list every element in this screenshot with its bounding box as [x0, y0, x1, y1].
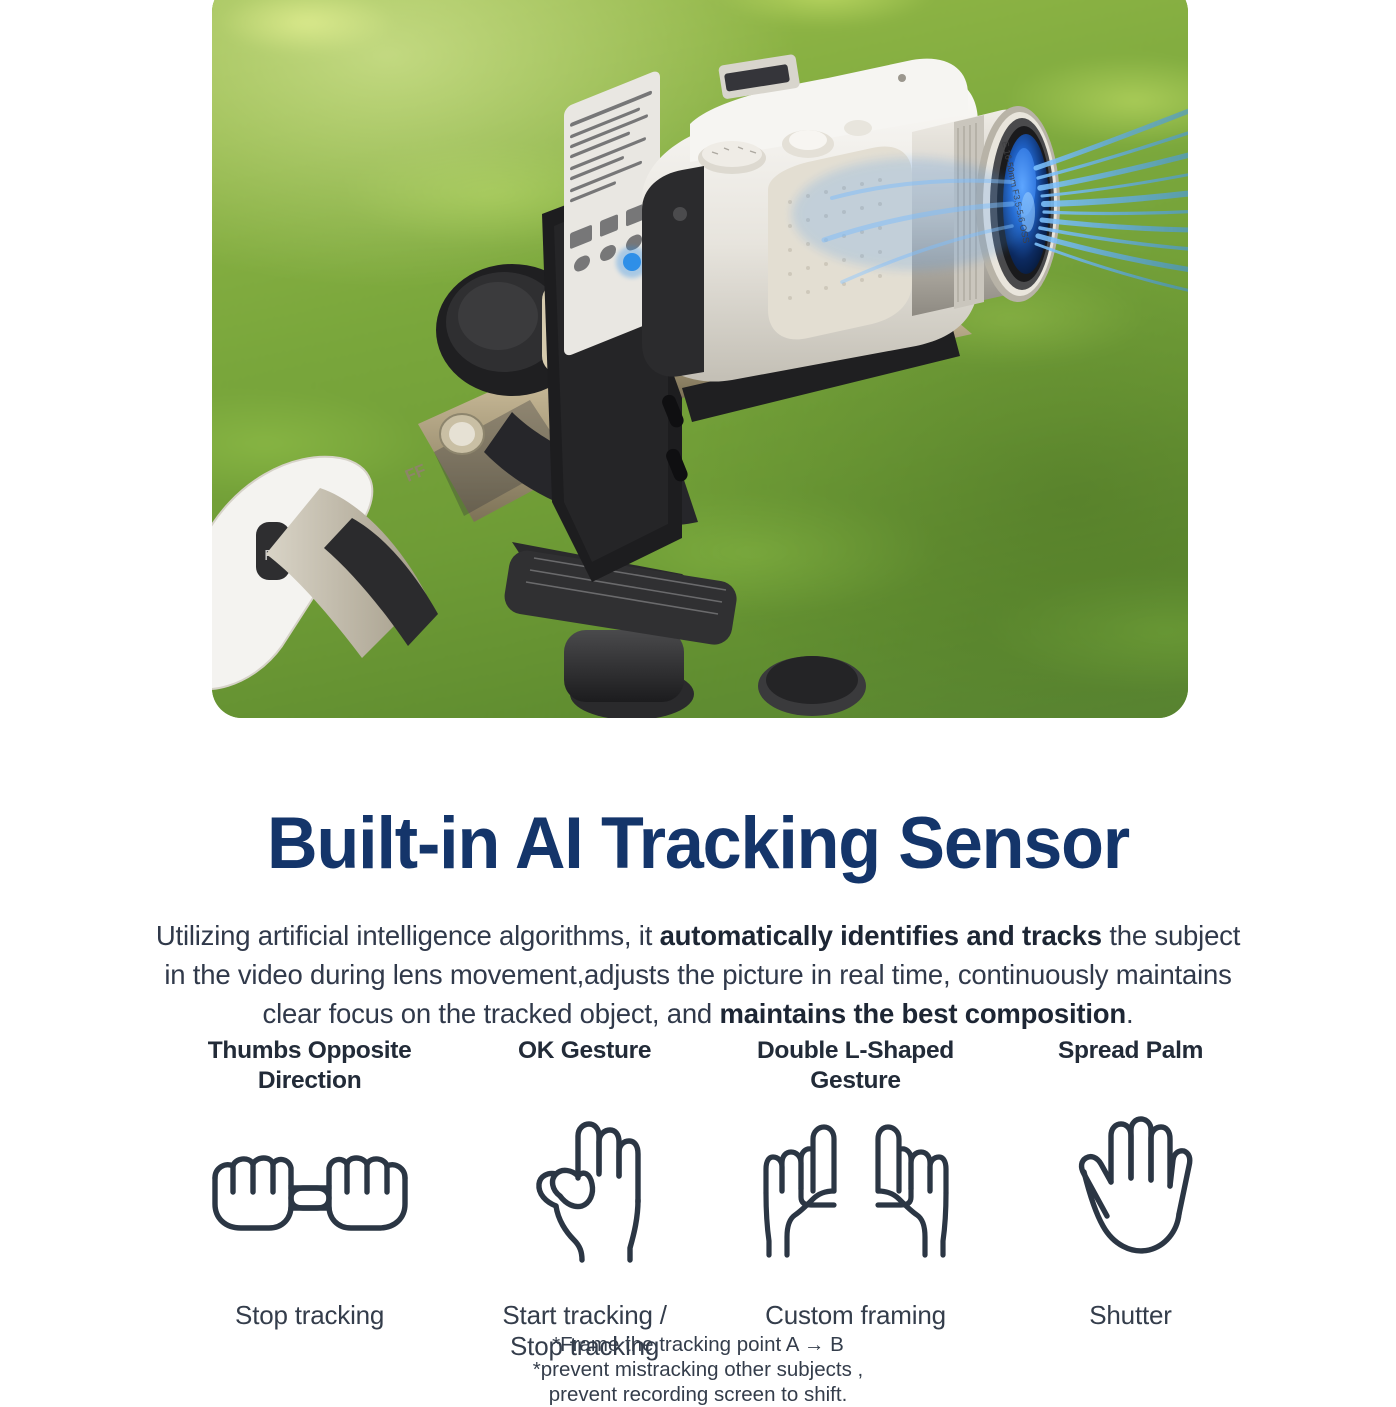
- gesture-column-ok: OK Gesture Start tracking / Stop tracki: [451, 1036, 718, 1362]
- gesture-column-double-l: Double L-Shaped Gesture: [718, 1036, 993, 1362]
- hero-product-photo: F2 FF: [212, 0, 1188, 718]
- gimbal-camera-rig: F2 FF: [212, 0, 1188, 718]
- footnote-line-3: prevent recording screen to shift.: [0, 1382, 1396, 1407]
- gesture-heading-line1: Double L-Shaped: [757, 1036, 954, 1066]
- intro-paragraph: Utilizing artificial intelligence algori…: [150, 916, 1246, 1033]
- gesture-column-thumbs-opposite: Thumbs Opposite Direction: [168, 1036, 451, 1362]
- intro-text-1: Utilizing artificial intelligence algori…: [156, 920, 660, 951]
- double-l-shaped-hands-icon: [761, 1114, 951, 1264]
- gesture-heading-line1: Thumbs Opposite: [208, 1036, 412, 1066]
- gesture-column-spread-palm: Spread Palm Shutter: [993, 1036, 1268, 1362]
- gesture-heading-line1: OK Gesture: [518, 1036, 651, 1066]
- gesture-heading-line2: Gesture: [757, 1066, 954, 1096]
- page-title: Built-in AI Tracking Sensor: [28, 807, 1368, 880]
- gesture-caption-line1: Stop tracking: [235, 1300, 384, 1331]
- ok-hand-gesture-icon: [526, 1114, 644, 1264]
- gesture-caption-line1: Start tracking /: [502, 1300, 666, 1331]
- gesture-heading-line1: Spread Palm: [1058, 1036, 1203, 1066]
- gesture-heading-line2: Direction: [208, 1066, 412, 1096]
- gesture-caption: Custom framing: [765, 1300, 946, 1331]
- gesture-caption: Stop tracking: [235, 1300, 384, 1331]
- intro-text-3: .: [1126, 998, 1133, 1029]
- spread-palm-icon: [1067, 1114, 1195, 1264]
- intro-bold-2: maintains the best composition: [719, 998, 1126, 1029]
- gesture-grid: Thumbs Opposite Direction: [168, 1036, 1268, 1362]
- footnote-line-1: *Frame the tracking point A → B: [0, 1332, 1396, 1357]
- gesture-caption-line1: Shutter: [1089, 1300, 1171, 1331]
- svg-text:FF: FF: [402, 460, 428, 485]
- gesture-heading: Double L-Shaped Gesture: [757, 1036, 954, 1096]
- gesture-heading: Thumbs Opposite Direction: [208, 1036, 412, 1096]
- footnote-line-2: *prevent mistracking other subjects ,: [0, 1357, 1396, 1382]
- gesture-heading: Spread Palm: [1058, 1036, 1203, 1096]
- gimbal-handle: F2: [212, 457, 438, 689]
- gesture-caption: Shutter: [1089, 1300, 1171, 1331]
- two-fists-thumbs-opposite-icon: [195, 1114, 425, 1264]
- gesture-caption-line1: Custom framing: [765, 1300, 946, 1331]
- gesture-heading: OK Gesture: [518, 1036, 651, 1096]
- intro-bold-1: automatically identifies and tracks: [660, 920, 1102, 951]
